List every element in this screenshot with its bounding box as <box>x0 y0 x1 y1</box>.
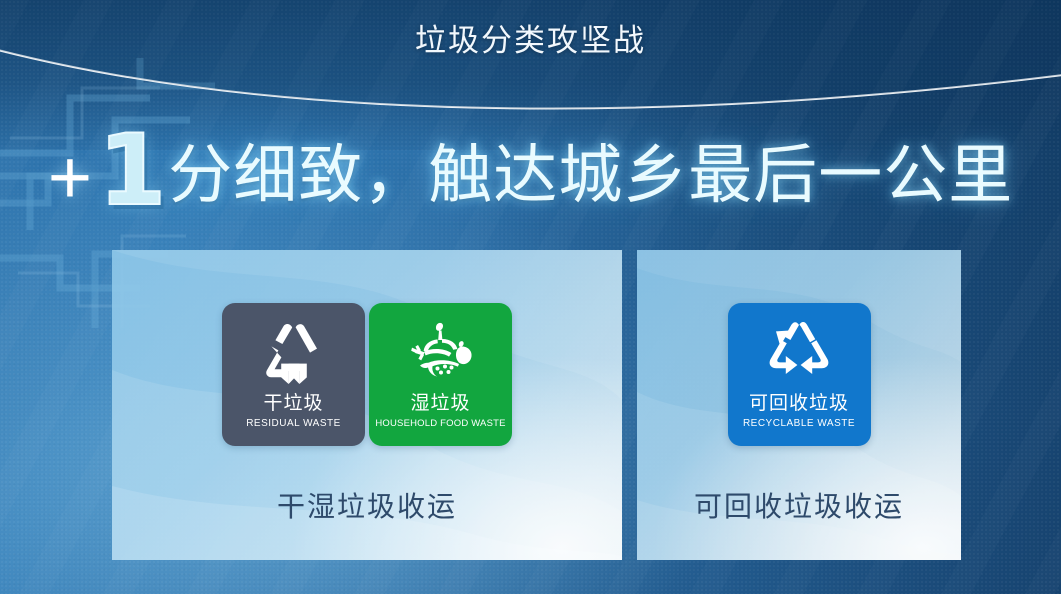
headline-text: 分细致，触达城乡最后一公里 <box>168 140 1013 210</box>
recycle-glyph <box>763 321 835 387</box>
panel-caption: 干湿垃圾收运 <box>112 490 622 524</box>
panel-wet-dry-collection[interactable]: 干垃圾 RESIDUAL WASTE <box>112 250 622 560</box>
recycle-icon <box>763 317 835 391</box>
food-waste-icon <box>404 317 478 391</box>
headline-number-one: 1 <box>98 122 166 220</box>
tile-recyclable-waste[interactable]: 可回收垃圾 RECYCLABLE WASTE <box>728 303 871 446</box>
food-waste-glyph <box>404 321 478 387</box>
tile-label-en: RECYCLABLE WASTE <box>743 417 855 431</box>
tile-row-recyclable: 可回收垃圾 RECYCLABLE WASTE <box>637 303 961 446</box>
tile-label-en: RESIDUAL WASTE <box>246 417 341 431</box>
tile-label-cn: 湿垃圾 <box>410 393 470 415</box>
tile-row-wet-dry: 干垃圾 RESIDUAL WASTE <box>112 303 622 446</box>
panel-recyclable-collection[interactable]: 可回收垃圾 RECYCLABLE WASTE 可回收垃圾收运 <box>637 250 961 560</box>
headline: + 1 分细致，触达城乡最后一公里 <box>0 126 1061 224</box>
slide-canvas: 垃圾分类攻坚战 + 1 分细致，触达城乡最后一公里 <box>0 0 1061 594</box>
tile-residual-waste[interactable]: 干垃圾 RESIDUAL WASTE <box>222 303 365 446</box>
tile-household-food-waste[interactable]: 湿垃圾 HOUSEHOLD FOOD WASTE <box>369 303 512 446</box>
tile-label-cn: 干垃圾 <box>263 393 323 415</box>
panel-caption: 可回收垃圾收运 <box>637 490 961 524</box>
tile-label-cn: 可回收垃圾 <box>749 393 849 415</box>
headline-plus-sign: + <box>48 140 92 216</box>
tile-label-en: HOUSEHOLD FOOD WASTE <box>375 417 505 431</box>
page-title: 垃圾分类攻坚战 <box>0 20 1061 62</box>
residual-waste-glyph <box>259 322 329 386</box>
residual-waste-icon <box>259 317 329 391</box>
